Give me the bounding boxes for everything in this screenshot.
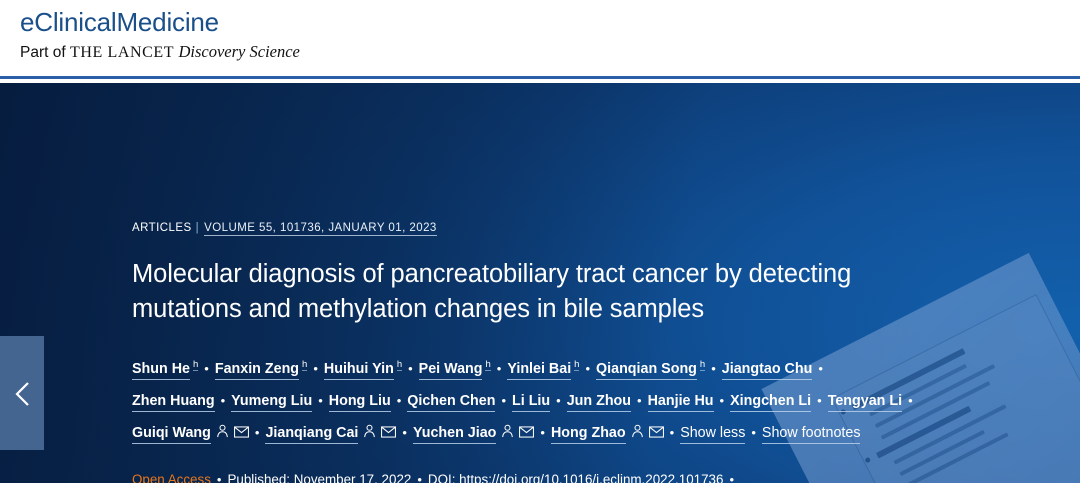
bullet-separator: •	[817, 393, 822, 408]
bullet-separator: •	[408, 361, 413, 376]
bullet-separator: •	[501, 393, 506, 408]
author-affiliation-marker[interactable]: h	[700, 359, 705, 371]
email-icon[interactable]	[381, 419, 396, 450]
breadcrumb: ARTICLES|VOLUME 55, 101736, JANUARY 01, …	[132, 222, 967, 234]
author-link[interactable]: Jianqiang Cai	[265, 425, 358, 444]
author-link[interactable]: Guiqi Wang	[132, 425, 211, 444]
breadcrumb-separator: |	[196, 222, 199, 234]
author-affiliation-marker[interactable]: h	[302, 359, 307, 371]
doi-label: DOI:	[428, 472, 456, 483]
doi-link[interactable]: https://doi.org/10.1016/j.eclinm.2022.10…	[459, 472, 723, 483]
author-profile-icon[interactable]	[363, 419, 376, 450]
bullet-separator: •	[221, 393, 226, 408]
author-link[interactable]: Zhen Huang	[132, 393, 215, 412]
author-link[interactable]: Shun He	[132, 361, 190, 380]
author-link[interactable]: Tengyan Li	[828, 393, 902, 412]
author-row: Shun Heh•Fanxin Zengh•Huihui Yinh•Pei Wa…	[132, 349, 967, 385]
author-link[interactable]: Qianqian Song	[596, 361, 697, 380]
author-link[interactable]: Jiangtao Chu	[722, 361, 813, 380]
journal-title: eClinicalMedicine	[20, 7, 219, 38]
email-icon[interactable]	[649, 419, 664, 450]
author-link[interactable]: Li Liu	[512, 393, 550, 412]
bullet-separator: •	[637, 393, 642, 408]
journal-subtitle: Part of THE LANCET Discovery Science	[20, 42, 300, 62]
author-link[interactable]: Huihui Yin	[324, 361, 394, 380]
bullet-separator: •	[585, 361, 590, 376]
author-link[interactable]: Qichen Chen	[407, 393, 495, 412]
email-icon[interactable]	[519, 419, 534, 450]
show-footnotes-link[interactable]: Show footnotes	[762, 425, 861, 444]
bullet-separator: •	[217, 472, 222, 483]
bullet-separator: •	[417, 472, 422, 483]
breadcrumb-volume-link[interactable]: VOLUME 55, 101736, JANUARY 01, 2023	[204, 222, 437, 236]
bullet-separator: •	[908, 393, 913, 408]
author-list: Shun Heh•Fanxin Zengh•Huihui Yinh•Pei Wa…	[132, 349, 967, 450]
email-icon[interactable]	[234, 419, 249, 450]
author-link[interactable]: Yumeng Liu	[231, 393, 312, 412]
author-profile-icon[interactable]	[501, 419, 514, 450]
lancet-wordmark: THE LANCET	[70, 44, 174, 61]
bullet-separator: •	[711, 361, 716, 376]
open-access-badge[interactable]: Open Access	[132, 472, 211, 483]
page-title: Molecular diagnosis of pancreatobiliary …	[132, 257, 932, 327]
masthead: eClinicalMedicine Part of THE LANCET Dis…	[0, 0, 1080, 76]
article-hero-banner: ARTICLES|VOLUME 55, 101736, JANUARY 01, …	[0, 83, 1080, 483]
author-link[interactable]: Hanjie Hu	[648, 393, 714, 412]
author-link[interactable]: Hong Zhao	[551, 425, 626, 444]
article-header-content: ARTICLES|VOLUME 55, 101736, JANUARY 01, …	[132, 222, 967, 483]
published-date: Published: November 17, 2022	[227, 472, 411, 483]
bullet-separator: •	[204, 361, 209, 376]
bullet-separator: •	[556, 393, 561, 408]
bullet-separator: •	[670, 425, 675, 440]
discovery-science-wordmark: Discovery Science	[178, 42, 299, 61]
bullet-separator: •	[255, 425, 260, 440]
breadcrumb-section[interactable]: ARTICLES	[132, 222, 192, 234]
bullet-separator: •	[318, 393, 323, 408]
author-link[interactable]: Xingchen Li	[730, 393, 811, 412]
author-profile-icon[interactable]	[216, 419, 229, 450]
journal-subtitle-prefix: Part of	[20, 44, 70, 61]
author-link[interactable]: Pei Wang	[419, 361, 483, 380]
author-affiliation-marker[interactable]: h	[574, 359, 579, 371]
bullet-separator: •	[402, 425, 407, 440]
author-affiliation-marker[interactable]: h	[397, 359, 402, 371]
author-link[interactable]: Jun Zhou	[567, 393, 631, 412]
author-row: Guiqi Wang•Jianqiang Cai•Yuchen Jiao•Hon…	[132, 417, 967, 450]
bullet-separator: •	[313, 361, 318, 376]
author-link[interactable]: Fanxin Zeng	[215, 361, 299, 380]
author-profile-icon[interactable]	[631, 419, 644, 450]
bullet-separator: •	[720, 393, 725, 408]
author-affiliation-marker[interactable]: h	[485, 359, 490, 371]
previous-article-button[interactable]	[0, 336, 44, 450]
bullet-separator: •	[397, 393, 402, 408]
bullet-separator: •	[729, 472, 734, 483]
show-less-link[interactable]: Show less	[680, 425, 745, 444]
bullet-separator: •	[751, 425, 756, 440]
author-affiliation-marker[interactable]: h	[193, 359, 198, 371]
publication-info: Open Access•Published: November 17, 2022…	[132, 472, 967, 483]
author-row: Zhen Huang•Yumeng Liu•Hong Liu•Qichen Ch…	[132, 385, 967, 417]
bullet-separator: •	[540, 425, 545, 440]
bullet-separator: •	[497, 361, 502, 376]
author-link[interactable]: Yuchen Jiao	[413, 425, 496, 444]
author-link[interactable]: Yinlei Bai	[507, 361, 571, 380]
bullet-separator: •	[818, 361, 823, 376]
author-link[interactable]: Hong Liu	[329, 393, 391, 412]
